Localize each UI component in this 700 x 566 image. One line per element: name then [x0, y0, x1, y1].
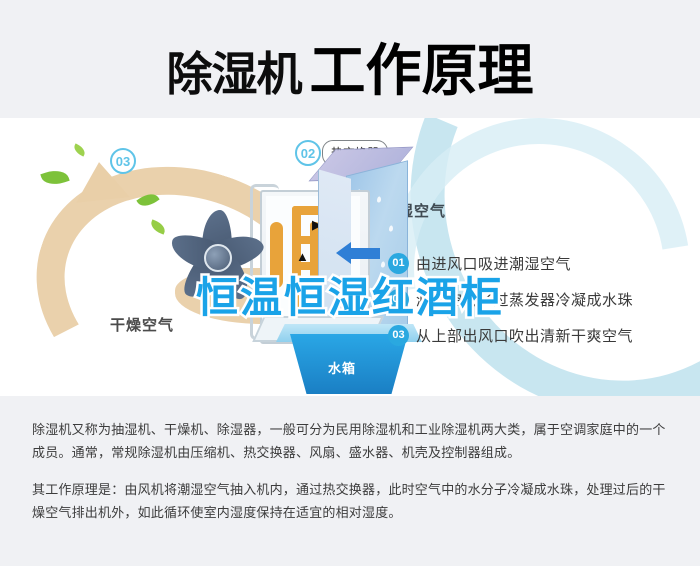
page-title: 除湿机工作原理: [0, 26, 700, 107]
step-text-02: 潮湿空气经过蒸发器冷凝成水珠: [416, 289, 633, 310]
steps-list: 01 由进风口吸进潮湿空气 02 潮湿空气经过蒸发器冷凝成水珠 03 从上部出风…: [388, 245, 688, 353]
fan-icon: [164, 204, 268, 308]
step-text-03: 从上部出风口吹出清新干爽空气: [416, 325, 633, 346]
paragraph-1: 除湿机又称为抽湿机、干燥机、除湿器，一般可分为民用除湿机和工业除湿机两大类，属于…: [32, 418, 672, 464]
intake-arrow-icon: [350, 248, 380, 259]
step-text-01: 由进风口吸进潮湿空气: [416, 253, 571, 274]
page-title-part2: 工作原理: [310, 39, 534, 102]
leaf-icon: [40, 166, 69, 188]
step-badge-02: 02: [388, 289, 409, 310]
diagram-badge-03: 03: [110, 148, 136, 174]
list-item: 02 潮湿空气经过蒸发器冷凝成水珠: [388, 281, 688, 317]
water-tank-label: 水箱: [328, 358, 356, 377]
dehumidifier-machine: ▲ ▲ ▲ ▼ ▼ ▶ 水箱: [150, 138, 400, 388]
step-badge-01: 01: [388, 253, 409, 274]
page-root: 除湿机工作原理 03 02 01 热交换器 干燥空气 潮湿空气: [0, 0, 700, 566]
list-item: 01 由进风口吸进潮湿空气: [388, 245, 688, 281]
paragraph-2: 其工作原理是：由风机将潮湿空气抽入机内，通过热交换器，此时空气中的水分子冷凝成水…: [32, 478, 672, 524]
leaf-icon: [72, 143, 87, 156]
body-copy: 除湿机又称为抽湿机、干燥机、除湿器，一般可分为民用除湿机和工业除湿机两大类，属于…: [32, 418, 672, 538]
page-title-part1: 除湿机: [167, 48, 302, 100]
fan-hub: [204, 244, 232, 272]
step-badge-03: 03: [388, 325, 409, 346]
list-item: 03 从上部出风口吹出清新干爽空气: [388, 317, 688, 353]
